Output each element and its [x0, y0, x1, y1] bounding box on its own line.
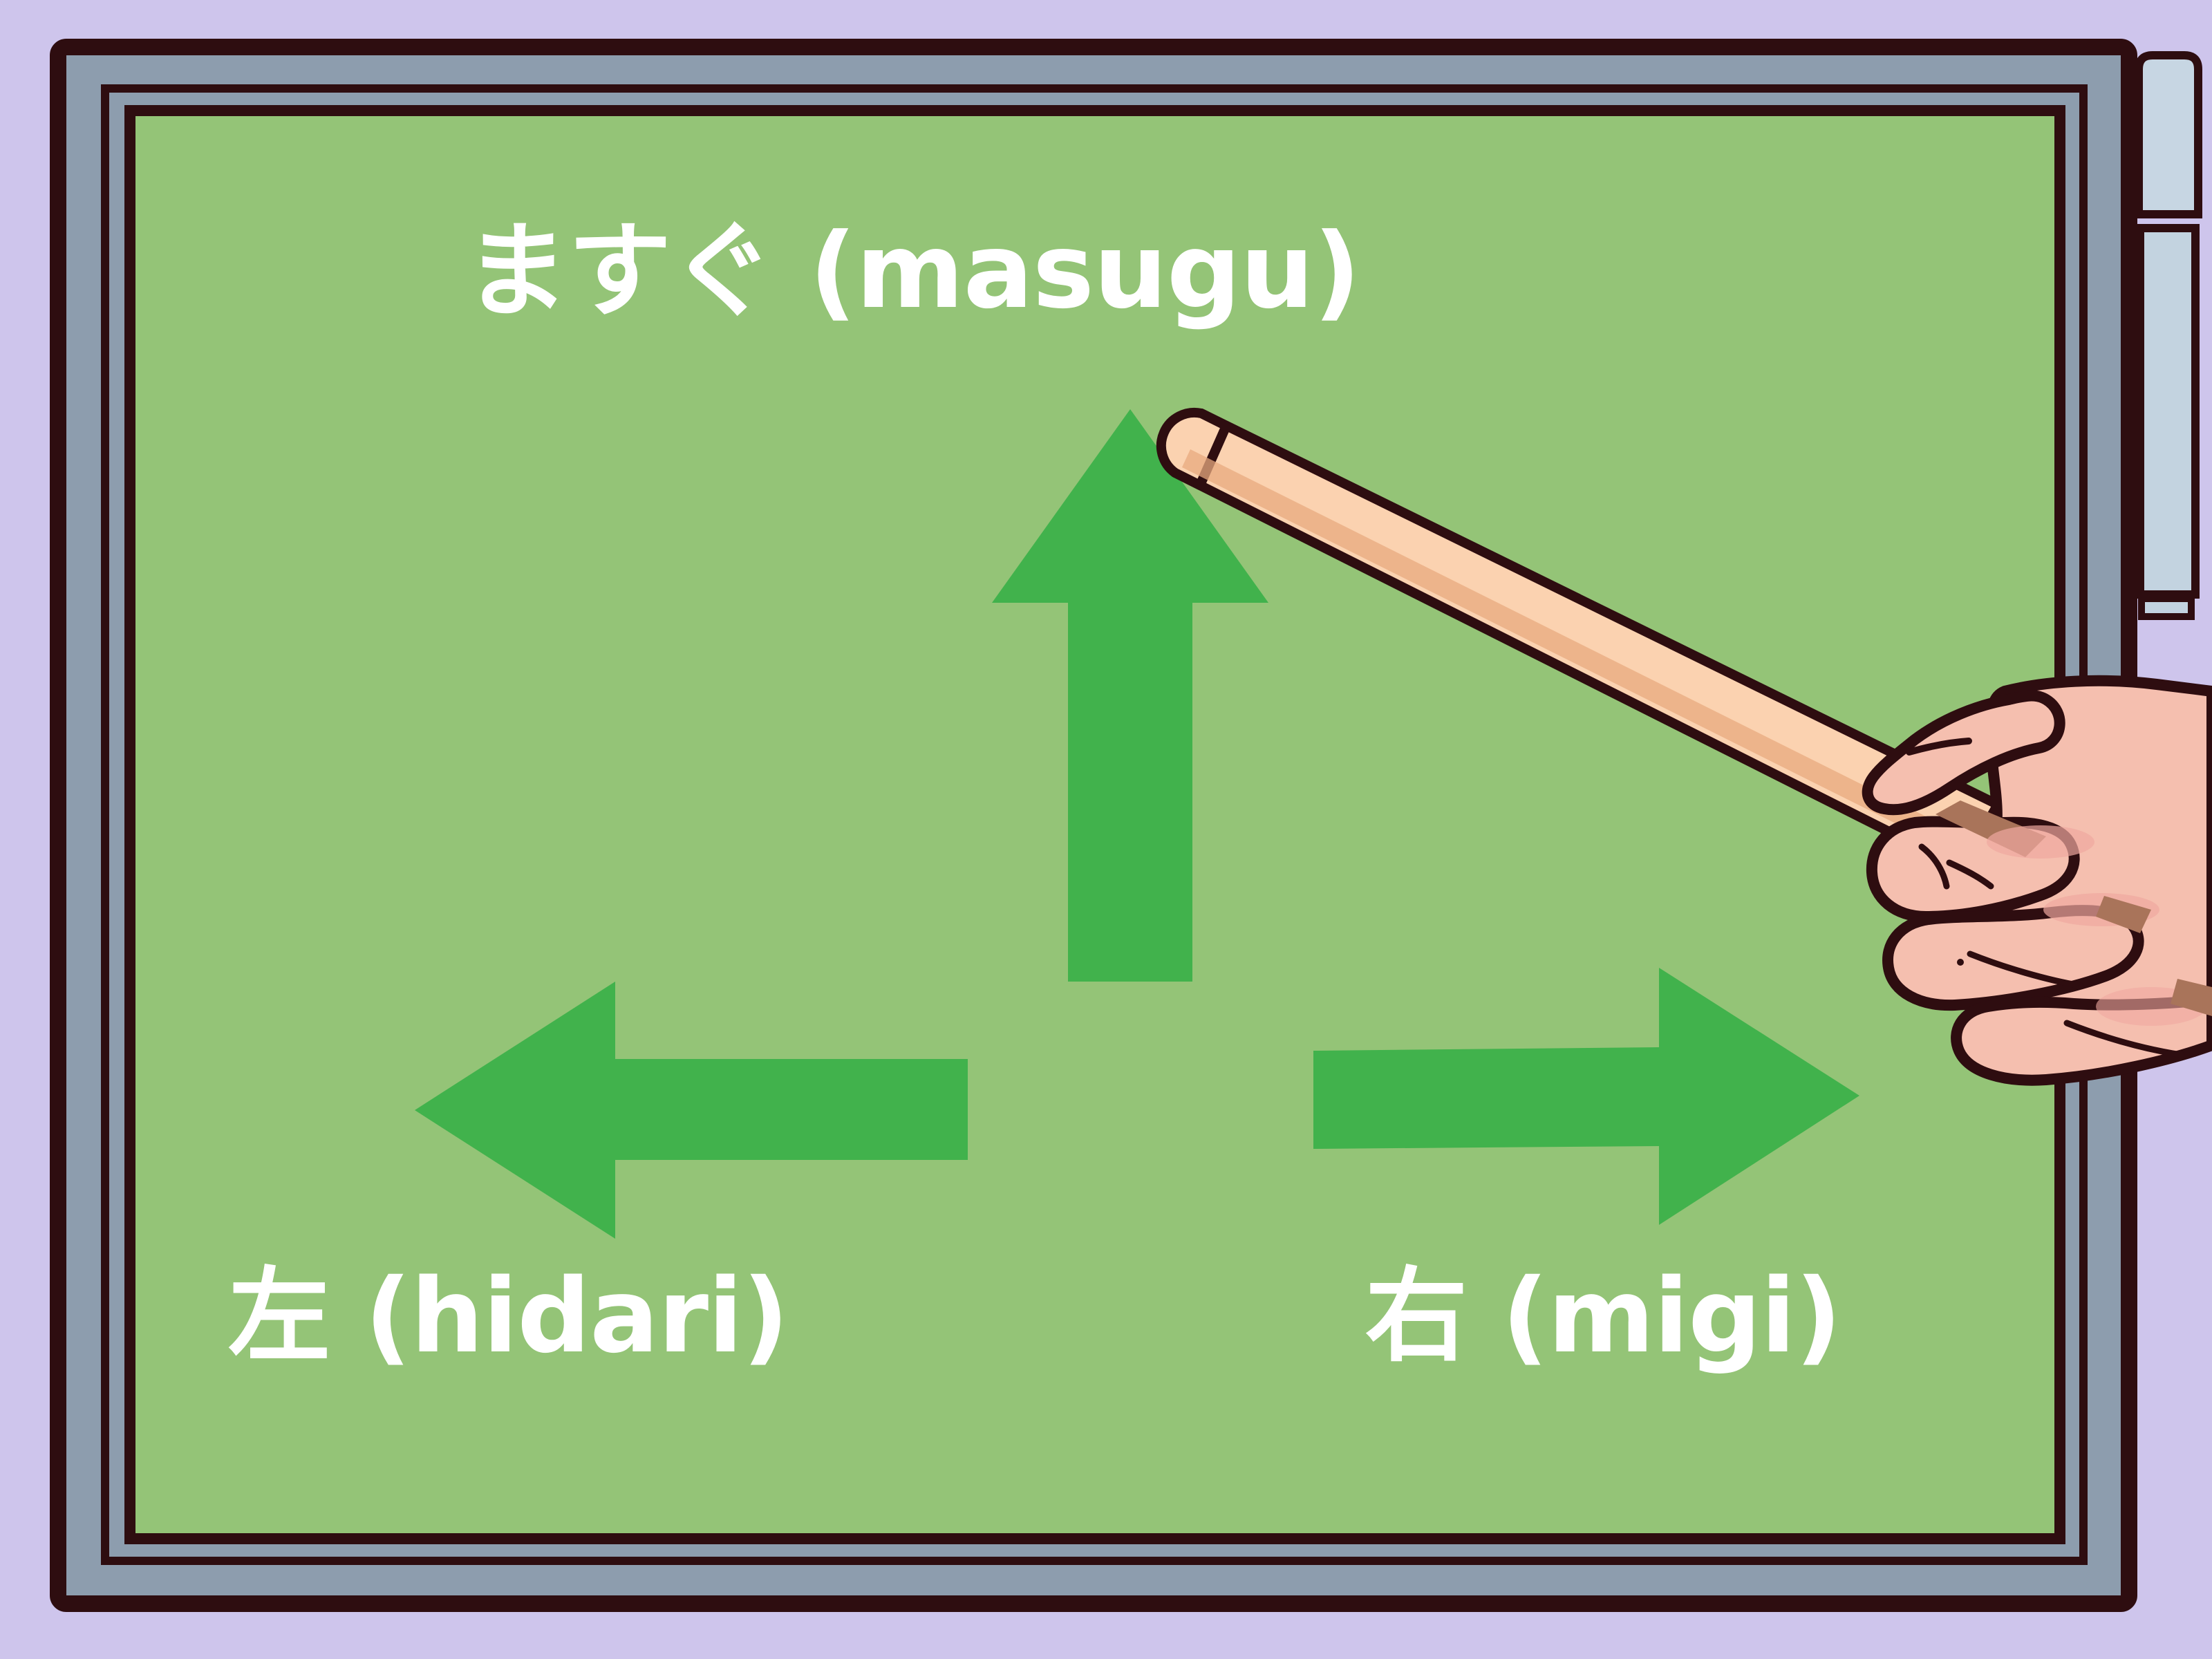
marker-cap	[2139, 55, 2198, 214]
label-migi: 右 (migi)	[1365, 1265, 1841, 1367]
illustration-stage: ますぐ (masugu) 左 (hidari) 右 (migi)	[0, 0, 2212, 1659]
marker-end	[2141, 599, 2191, 617]
label-masugu: ますぐ (masugu)	[0, 220, 2212, 324]
label-hidari: 左 (hidari)	[228, 1265, 788, 1367]
whiteboard-marker[interactable]	[2139, 55, 2198, 617]
